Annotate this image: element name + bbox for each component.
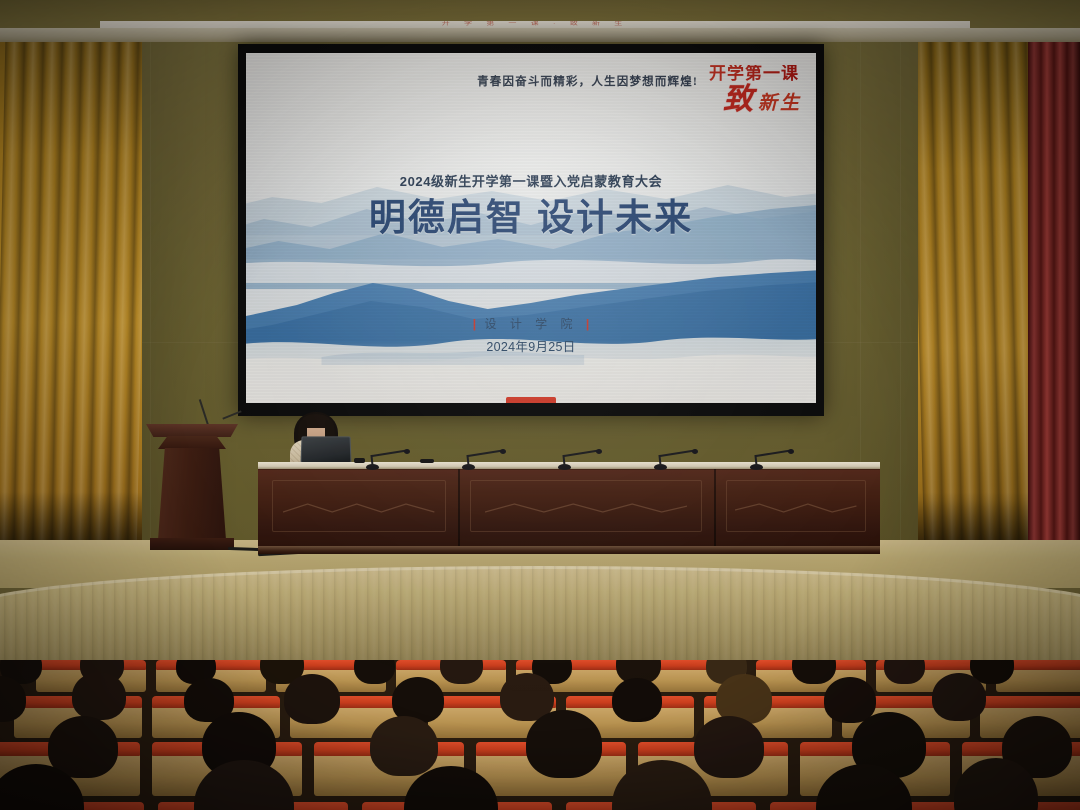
audience-head [932,673,986,721]
mic-capsule [404,449,410,454]
lectern-top [146,424,238,437]
mic-capsule [596,449,602,454]
slide-accent-tab [506,397,556,403]
panel-zigzag [485,501,687,515]
lectern-microphone-icon [208,398,242,428]
org-bar-right: | [586,317,589,331]
audience-head [694,716,764,778]
curtain-folds [1028,42,1080,554]
table-seam [714,469,716,547]
slide-stamp-big-char: 致 [723,85,753,115]
audience-seating-area [0,660,1080,810]
auditorium-scene: 开 学 第 一 课 · 致 新 生 [0,0,1080,810]
lectern-base [150,538,234,550]
mic-gooseneck [468,449,504,457]
org-bar-left: | [473,317,476,331]
mic-capsule [692,449,698,454]
slide-stamp-line1: 开学第一课 [709,65,802,83]
slide-stamp-small-chars: 新生 [758,94,802,113]
slide-stamp-block: 开学第一课 致 新生 [709,65,802,115]
audience-head [526,710,602,778]
table-microphone [558,448,604,470]
table-microphone [366,448,412,470]
audience-head [370,716,438,776]
laptop-screen [300,436,351,463]
lectern-body [158,448,226,540]
overhead-banner-text: 开 学 第 一 课 · 致 新 生 [100,21,970,27]
audience-head [284,674,340,724]
lectern-neck [158,436,226,449]
slide-date: 2024年9月25日 [246,336,816,355]
table-decorative-panel [726,480,866,532]
org-name: 设 计 学 院 [484,317,577,331]
slide-main-title: 明德启智 设计未来 [246,187,816,241]
led-screen: 青春因奋斗而精彩，人生因梦想而辉煌! 开学第一课 致 新生 2024级新生开学第… [246,53,816,403]
mic-arm [222,410,241,419]
audience-head [72,672,126,720]
mic-capsule [500,449,506,454]
mic-gooseneck [372,449,408,457]
mic-gooseneck [564,449,600,457]
mic-gooseneck [756,449,792,457]
panel-zigzag [283,501,434,515]
audience-head [354,660,395,684]
stage-curtain-red [1028,42,1080,554]
desk-object [420,459,434,463]
audience-head [824,677,876,723]
audience-head [612,678,662,722]
table-plinth [258,546,880,554]
lectern [146,424,238,552]
table-decorative-panel [272,480,446,532]
stage-curtain-right [918,42,1036,552]
slide-stamp-line2: 致 新生 [709,85,802,115]
led-screen-frame: 青春因奋斗而精彩，人生因梦想而辉煌! 开学第一课 致 新生 2024级新生开学第… [238,44,824,416]
table-microphone [654,448,700,470]
curtain-folds [0,42,142,552]
desk-object [354,458,365,463]
mic-capsule [788,449,794,454]
curtain-folds [918,42,1036,552]
table-decorative-panel [470,480,702,532]
mic-gooseneck [660,449,696,457]
presentation-slide: 青春因奋斗而精彩，人生因梦想而辉煌! 开学第一课 致 新生 2024级新生开学第… [246,53,816,403]
stage-curtain-left [0,42,142,552]
slide-tagline: 青春因奋斗而精彩，人生因梦想而辉煌! [302,73,698,89]
table-microphone [462,448,508,470]
head-table [258,462,880,554]
slide-organization: | 设 计 学 院 | [246,315,816,332]
seat-back-cushion [980,696,1080,708]
panel-zigzag [735,501,856,515]
table-microphone [750,448,796,470]
table-seam [458,469,460,547]
